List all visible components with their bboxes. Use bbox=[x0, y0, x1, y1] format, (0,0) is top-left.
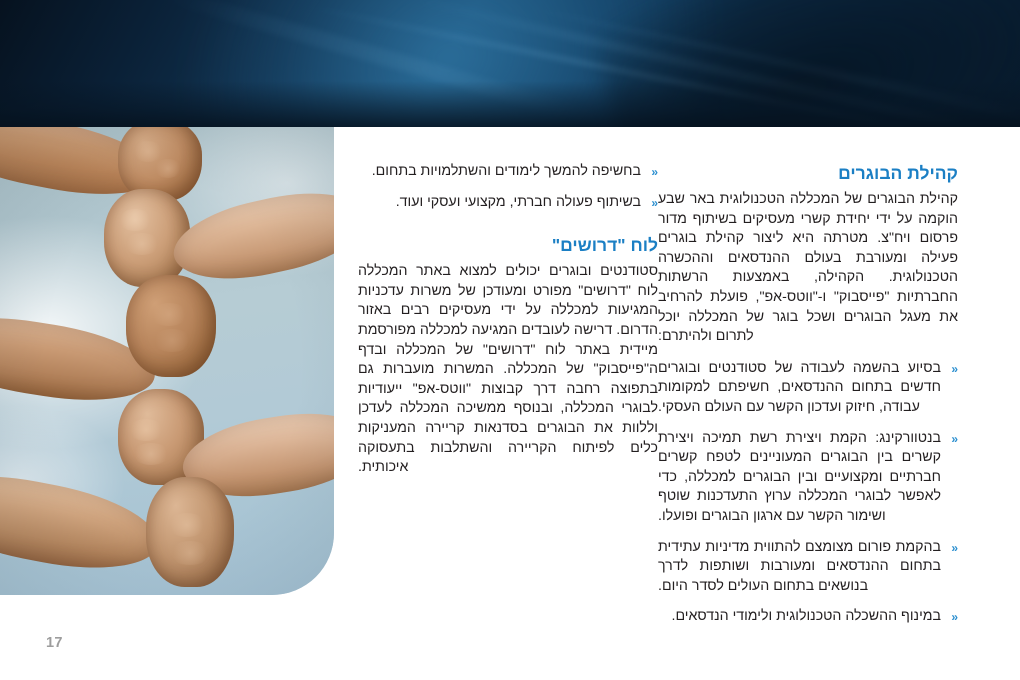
photo-knuckle bbox=[132, 443, 170, 465]
photo-knuckle bbox=[124, 233, 160, 255]
page-number: 17 bbox=[46, 635, 63, 651]
list-item: « במינוף ההשכלה הטכנולוגית ולימודי הנדסא… bbox=[658, 607, 958, 627]
list-item-text: בהקמת פורום מצומצם להתווית מדיניות עתידי… bbox=[658, 539, 941, 594]
section-title-alumni-community: קהילת הבוגרים bbox=[658, 162, 958, 184]
alumni-bullet-list: « בסיוע בהשמה לעבודה של סטודנטים ובוגרים… bbox=[658, 359, 958, 627]
continued-bullet-list: « בחשיפה להמשך לימודים והשתלמויות בתחום.… bbox=[358, 162, 658, 212]
list-item: « בחשיפה להמשך לימודים והשתלמויות בתחום. bbox=[358, 162, 658, 182]
teamwork-hands-photo bbox=[0, 127, 334, 595]
list-item-text: בחשיפה להמשך לימודים והשתלמויות בתחום. bbox=[372, 163, 641, 179]
header-banner bbox=[0, 0, 1020, 127]
list-item: « בסיוע בהשמה לעבודה של סטודנטים ובוגרים… bbox=[658, 359, 958, 418]
photo-knuckle bbox=[154, 159, 182, 178]
list-item-text: במינוף ההשכלה הטכנולוגית ולימודי הנדסאים… bbox=[672, 608, 942, 624]
photo-knuckle bbox=[152, 329, 192, 352]
bullet-marker-icon: « bbox=[951, 539, 958, 558]
bullet-marker-icon: « bbox=[951, 360, 958, 379]
photo-knuckle bbox=[128, 419, 164, 441]
alumni-community-paragraph: קהילת הבוגרים של המכללה הטכנולוגית באר ש… bbox=[658, 190, 958, 347]
list-item-text: בסיוע בהשמה לעבודה של סטודנטים ובוגרים ח… bbox=[658, 360, 941, 415]
bullet-marker-icon: « bbox=[651, 194, 658, 213]
photo-knuckle bbox=[150, 303, 188, 326]
list-item-text: בנטוורקינג: הקמת ויצירת רשת תמיכה ויצירת… bbox=[658, 430, 941, 524]
list-item-text: בשיתוף פעולה חברתי, מקצועי ועסקי ועוד. bbox=[396, 194, 641, 210]
list-item: « בנטוורקינג: הקמת ויצירת רשת תמיכה ויצי… bbox=[658, 429, 958, 527]
bullet-marker-icon: « bbox=[951, 430, 958, 449]
list-item: « בשיתוף פעולה חברתי, מקצועי ועסקי ועוד. bbox=[358, 193, 658, 213]
jobs-board-paragraph: סטודנטים ובוגרים יכולים למצוא באתר המכלל… bbox=[358, 262, 658, 478]
brochure-page: « בחשיפה להמשך לימודים והשתלמויות בתחום.… bbox=[0, 0, 1020, 680]
photo-knuckle bbox=[168, 513, 206, 537]
photo-knuckle bbox=[133, 141, 163, 162]
middle-text-column: « בחשיפה להמשך לימודים והשתלמויות בתחום.… bbox=[358, 162, 658, 478]
photo-fist bbox=[126, 275, 216, 377]
bullet-marker-icon: « bbox=[951, 608, 958, 627]
section-title-jobs-board: לוח "דרושים" bbox=[358, 234, 658, 256]
bullet-marker-icon: « bbox=[651, 163, 658, 182]
banner-bottom-fade bbox=[0, 81, 1020, 127]
list-item: « בהקמת פורום מצומצם להתווית מדיניות עתי… bbox=[658, 538, 958, 597]
right-text-column: קהילת הבוגרים קהילת הבוגרים של המכללה הט… bbox=[658, 162, 958, 627]
photo-knuckle bbox=[118, 209, 152, 231]
photo-knuckle bbox=[170, 541, 210, 565]
